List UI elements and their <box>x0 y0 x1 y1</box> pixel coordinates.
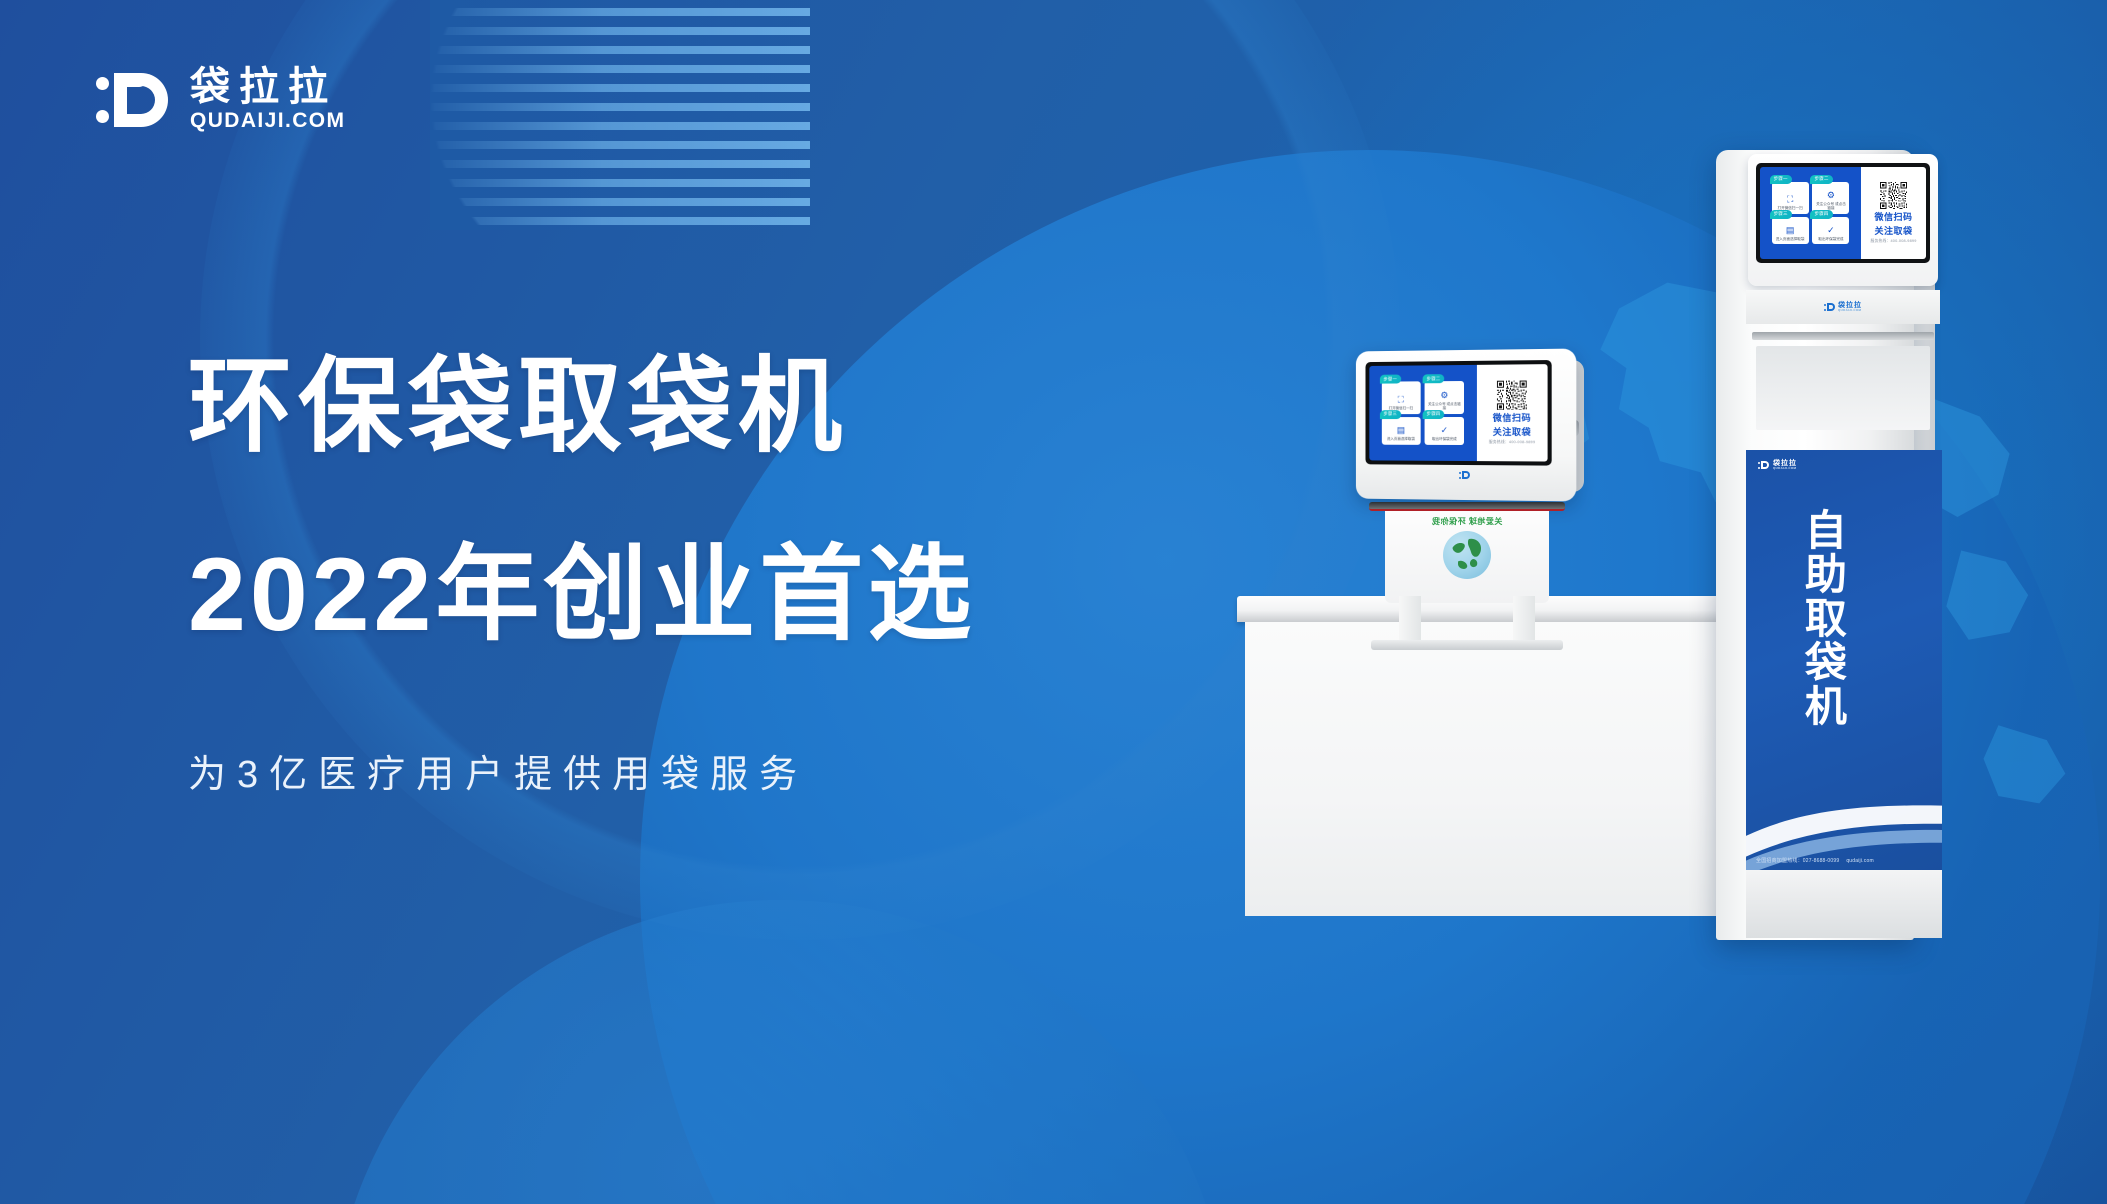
screen-qr-panel: 微信扫码 关注取袋 服务热线：400-008-9899 <box>1477 364 1548 461</box>
step-card: 步骤三 ▤ 进入页面选择取袋 <box>1772 217 1809 244</box>
logo-top-dash <box>114 73 146 87</box>
step-caption: 进入页面选择取袋 <box>1387 437 1415 442</box>
screen-steps-panel: 步骤一 ⛶ 打开微信扫一扫 步骤二 ⚙ 关注公众号 或点击链接 步骤三 <box>1760 167 1861 259</box>
qr-code-icon <box>1497 380 1527 410</box>
eco-slogan: 关爱地球 环保你我 <box>1385 516 1549 527</box>
check-circle-icon: ✓ <box>1827 226 1835 235</box>
stand-base-plate <box>1371 640 1563 650</box>
banner-stage: 袋拉拉 QUDAIJI.COM 环保袋取袋机 2022年创业首选 为3亿医疗用户… <box>0 0 2107 1204</box>
logo-dot-top <box>1758 462 1760 464</box>
phone-order-icon: ▤ <box>1397 426 1405 435</box>
countertop-machine-body: 步骤一 ⛶ 打开微信扫一扫 步骤二 ⚙ 关注公众号 或点击链接 步骤三 ▤ <box>1356 349 1576 502</box>
screen-qr-panel: 微信扫码 关注取袋 服务热线：400-008-9899 <box>1861 167 1926 259</box>
follow-icon: ⚙ <box>1440 391 1448 400</box>
step-tag: 步骤一 <box>1380 375 1401 384</box>
headline-line-2: 2022年创业首选 <box>188 543 975 647</box>
kiosk-graphic-panel: 袋拉拉 QUDAIJI.COM 自助取袋机 全国招商加盟热线：027-8688-… <box>1746 450 1942 870</box>
logo-dot-top <box>1824 304 1826 306</box>
striped-fan-fade <box>430 0 810 230</box>
qr-scan-icon: ⛶ <box>1787 195 1793 204</box>
step-tag: 步骤一 <box>1770 175 1792 184</box>
check-circle-icon: ✓ <box>1441 426 1448 435</box>
logo-dot-bottom <box>1459 476 1461 478</box>
qr-title-line-2: 关注取袋 <box>1875 226 1913 236</box>
step-caption: 取出环保袋完成 <box>1432 437 1457 442</box>
step-caption: 进入页面选择取袋 <box>1776 237 1805 241</box>
step-card: 步骤二 ⚙ 关注公众号 或点击链接 <box>1812 182 1849 214</box>
colon-d-logo-icon <box>1824 302 1835 312</box>
hero-copy-block: 环保袋取袋机 2022年创业首选 为3亿医疗用户提供用袋服务 <box>188 355 975 798</box>
step-card: 步骤一 ⛶ 打开微信扫一扫 <box>1772 182 1809 214</box>
step-tag: 步骤四 <box>1423 410 1445 419</box>
stand-leg-left <box>1399 596 1421 642</box>
counter-front-panel <box>1245 622 1759 916</box>
logo-dot-bottom <box>1758 467 1760 469</box>
logo-dot-bottom <box>1824 309 1826 311</box>
step-tag: 步骤二 <box>1423 374 1445 383</box>
kiosk-touchscreen[interactable]: 步骤一 ⛶ 打开微信扫一扫 步骤二 ⚙ 关注公众号 或点击链接 步骤三 <box>1756 163 1930 263</box>
qr-title-line-1: 微信扫码 <box>1875 212 1913 222</box>
bag-dispense-slot <box>1369 502 1565 511</box>
step-card: 步骤四 ✓ 取出环保袋完成 <box>1425 417 1465 445</box>
logo-dot-bottom <box>96 110 109 123</box>
kiosk-panel-logo: 袋拉拉 QUDAIJI.COM <box>1758 460 1797 471</box>
logo-d-stem <box>1462 471 1464 479</box>
kiosk-screen-housing: 步骤一 ⛶ 打开微信扫一扫 步骤二 ⚙ 关注公众号 或点击链接 步骤三 <box>1748 154 1938 286</box>
colon-d-logo-icon <box>96 66 170 132</box>
headline-line-1: 环保袋取袋机 <box>188 355 975 459</box>
kiosk-panel-title: 自助取袋机 <box>1800 508 1845 728</box>
hero-subline: 为3亿医疗用户提供用袋服务 <box>188 743 975 798</box>
kiosk-main-body: 步骤一 ⛶ 打开微信扫一扫 步骤二 ⚙ 关注公众号 或点击链接 步骤三 <box>1716 150 1914 940</box>
kiosk-brand-band: 袋拉拉 QUDAIJI.COM <box>1746 290 1940 324</box>
countertop-brand-logo <box>1356 469 1576 481</box>
countertop-front-panel: 关爱地球 环保你我 <box>1385 511 1549 603</box>
qr-title-line-1: 微信扫码 <box>1493 413 1531 423</box>
logo-d-stem <box>1827 303 1829 311</box>
step-caption: 取出环保袋完成 <box>1818 237 1843 241</box>
kiosk-panel-footer: 全国招商加盟热线：027-8688-0099 qudaiji.com <box>1756 857 1934 864</box>
striped-fan-decoration <box>430 0 810 230</box>
brand-logo-text: 袋拉拉 QUDAIJI.COM <box>190 67 345 131</box>
logo-dot-top <box>96 77 109 90</box>
countertop-machine-stand <box>1363 596 1571 654</box>
qr-scan-icon: ⛶ <box>1398 395 1404 404</box>
brand-logo[interactable]: 袋拉拉 QUDAIJI.COM <box>96 66 345 132</box>
step-tag: 步骤二 <box>1810 175 1832 184</box>
logo-d-stem <box>1761 461 1763 469</box>
step-tag: 步骤三 <box>1770 210 1792 219</box>
colon-d-logo-icon <box>1758 460 1769 470</box>
brand-name-cn: 袋拉拉 <box>190 67 345 107</box>
floor-standing-bag-kiosk[interactable]: 步骤一 ⛶ 打开微信扫一扫 步骤二 ⚙ 关注公众号 或点击链接 步骤三 <box>1690 150 1940 940</box>
logo-dot-top <box>1459 471 1461 473</box>
kiosk-panel-brand-en: QUDAIJI.COM <box>1773 467 1797 471</box>
kiosk-brand-text: 袋拉拉 QUDAIJI.COM <box>1838 302 1862 313</box>
phone-order-icon: ▤ <box>1786 226 1795 235</box>
kiosk-brand-logo: 袋拉拉 QUDAIJI.COM <box>1824 302 1862 313</box>
kiosk-bag-slot <box>1752 332 1934 340</box>
screen-ui-small: 步骤一 ⛶ 打开微信扫一扫 步骤二 ⚙ 关注公众号 或点击链接 步骤三 ▤ <box>1369 364 1547 461</box>
follow-icon: ⚙ <box>1827 191 1835 200</box>
qr-service-line: 服务热线：400-008-9899 <box>1489 440 1535 445</box>
brand-name-en: QUDAIJI.COM <box>190 110 345 131</box>
kiosk-footer-site: qudaiji.com <box>1846 858 1874 864</box>
step-tag: 步骤四 <box>1810 210 1832 219</box>
step-card: 步骤四 ✓ 取出环保袋完成 <box>1812 217 1849 244</box>
step-card: 步骤三 ▤ 进入页面选择取袋 <box>1381 417 1420 445</box>
colon-d-logo-icon <box>1459 470 1470 480</box>
screen-steps-panel: 步骤一 ⛶ 打开微信扫一扫 步骤二 ⚙ 关注公众号 或点击链接 步骤三 ▤ <box>1369 365 1476 461</box>
earth-globe-icon <box>1443 531 1491 579</box>
kiosk-bag-chute <box>1756 346 1930 430</box>
qr-code-icon <box>1880 182 1907 209</box>
kiosk-panel-logo-text: 袋拉拉 QUDAIJI.COM <box>1773 460 1797 471</box>
step-card: 步骤二 ⚙ 关注公众号 或点击链接 <box>1425 381 1465 414</box>
countertop-touchscreen[interactable]: 步骤一 ⛶ 打开微信扫一扫 步骤二 ⚙ 关注公众号 或点击链接 步骤三 ▤ <box>1365 360 1551 466</box>
qr-title-line-2: 关注取袋 <box>1493 427 1531 437</box>
kiosk-brand-name-en: QUDAIJI.COM <box>1838 309 1862 313</box>
step-card: 步骤一 ⛶ 打开微信扫一扫 <box>1381 382 1420 414</box>
kiosk-footer-note: 全国招商加盟热线：027-8688-0099 <box>1756 857 1839 864</box>
screen-ui-large: 步骤一 ⛶ 打开微信扫一扫 步骤二 ⚙ 关注公众号 或点击链接 步骤三 <box>1760 167 1926 259</box>
stand-leg-right <box>1513 596 1535 642</box>
step-tag: 步骤三 <box>1380 410 1401 419</box>
kiosk-panel-swoosh-decoration <box>1746 750 1942 870</box>
kiosk-base <box>1746 870 1942 938</box>
countertop-bag-dispenser[interactable]: 步骤一 ⛶ 打开微信扫一扫 步骤二 ⚙ 关注公众号 或点击链接 步骤三 ▤ <box>1345 350 1595 610</box>
qr-service-line: 服务热线：400-008-9899 <box>1871 239 1917 244</box>
